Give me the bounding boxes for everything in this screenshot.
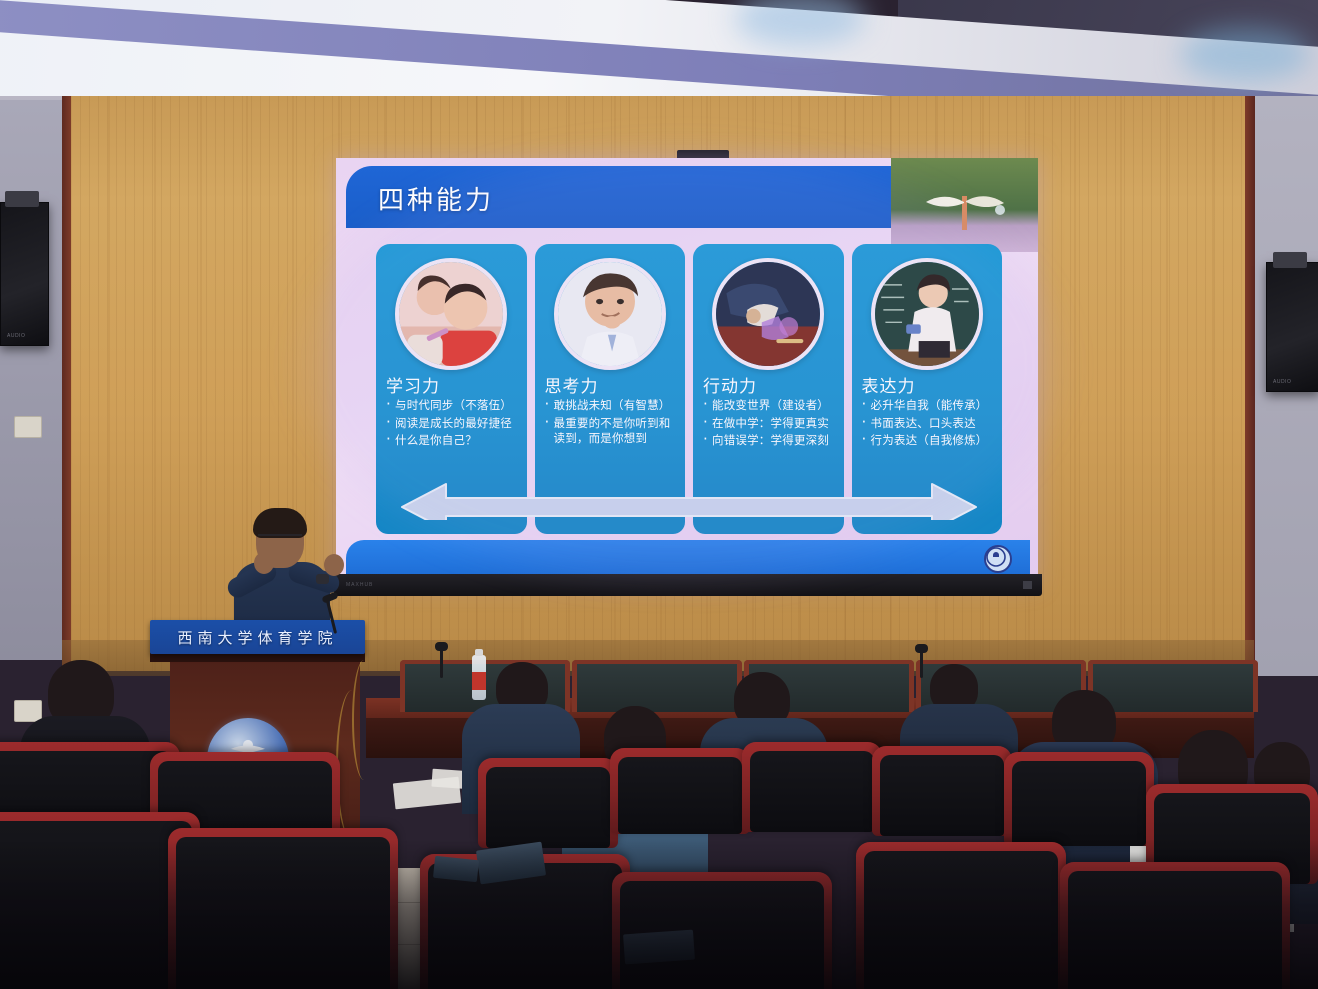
card-title: 学习力 <box>386 372 440 397</box>
presentation-display: 四种能力 <box>336 158 1038 586</box>
card-strip-cell <box>376 520 527 534</box>
bullet-item: 向错误学：学得更深刻 <box>701 433 838 449</box>
card-bullets: 敢挑战未知（有智慧） 最重要的不是你听到和读到，而是你想到 <box>543 398 680 449</box>
seat-cushion <box>750 751 874 832</box>
bullet-item: 必升华自我（能传承） <box>860 398 997 414</box>
card-bullets: 能改变世界（建设者） 在做中学：学得更真实 向错误学：学得更深刻 <box>701 398 838 451</box>
card-strip-cell <box>693 520 844 534</box>
auditorium-seat <box>742 742 882 832</box>
seat-cushion <box>486 767 610 848</box>
wall-speaker-left: AUDIO <box>0 202 49 346</box>
seat-cushion <box>1012 761 1146 846</box>
card-title: 行动力 <box>703 372 757 397</box>
desk-microphone-stem <box>440 648 443 678</box>
bullet-item: 阅读是成长的最好捷径 <box>384 416 521 432</box>
sprout-icon <box>922 186 1008 232</box>
card-bottom-strip <box>376 520 1002 534</box>
card-bullets: 与时代同步（不落伍） 阅读是成长的最好捷径 什么是你自己？ <box>384 398 521 451</box>
slide-footer-bar <box>346 540 1030 574</box>
bullet-item: 能改变世界（建设者） <box>701 398 838 414</box>
wall-speaker-right: AUDIO <box>1266 262 1318 392</box>
sprout-photo <box>891 158 1038 252</box>
bullet-item: 行为表达（自我修炼） <box>860 433 997 449</box>
seat-cushion <box>880 755 1004 836</box>
display-bezel: MAXHUB <box>334 574 1042 596</box>
wall-trim-right <box>1245 96 1255 674</box>
laboratory-experiment-photo <box>712 258 824 370</box>
children-studying-photo <box>395 258 507 370</box>
auditorium-seat <box>610 748 750 834</box>
card-strip-cell <box>852 520 1003 534</box>
cable-2 <box>336 690 368 840</box>
card-bullets: 必升华自我（能传承） 书面表达、口头表达 行为表达（自我修炼） <box>860 398 997 451</box>
speaker-bracket-right <box>1273 252 1307 268</box>
bullet-item: 书面表达、口头表达 <box>860 416 997 432</box>
teacher-at-blackboard-photo <box>871 258 983 370</box>
seat-cushion <box>618 757 742 834</box>
card-title: 表达力 <box>862 372 916 397</box>
slide-title: 四种能力 <box>378 180 494 217</box>
auditorium-seat <box>872 746 1012 836</box>
wall-outlet-upper <box>14 416 42 438</box>
slide-canvas: 四种能力 <box>336 158 1038 586</box>
speaker-brand-label-right: AUDIO <box>1273 379 1291 385</box>
desk-microphone-head <box>435 642 448 651</box>
bullet-item: 敢挑战未知（有智慧） <box>543 398 680 414</box>
speaker-brand-label-left: AUDIO <box>7 333 25 339</box>
desk-microphone-head <box>915 644 928 653</box>
wall-trim-left <box>62 96 71 671</box>
presenter-wristwatch <box>316 574 329 584</box>
presenter-glasses <box>258 534 302 545</box>
card-title: 思考力 <box>545 372 599 397</box>
bullet-item: 什么是你自己？ <box>384 433 521 449</box>
presenter-right-hand <box>324 554 344 576</box>
speaker-bracket-left <box>5 191 39 207</box>
foreground-shadow-overlay <box>0 839 1318 989</box>
auditorium-seat <box>478 758 618 848</box>
bullet-item: 在做中学：学得更真实 <box>701 416 838 432</box>
bullet-item: 最重要的不是你听到和读到，而是你想到 <box>543 416 680 447</box>
man-thinking-photo <box>554 258 666 370</box>
bullet-item: 与时代同步（不落伍） <box>384 398 521 414</box>
display-indicator <box>1023 581 1032 589</box>
ceiling-light-glow-2 <box>1180 28 1310 82</box>
lecture-hall-photo: AUDIO AUDIO 四种能力 <box>0 0 1318 989</box>
display-brand-label: MAXHUB <box>346 582 373 588</box>
left-side-wall <box>0 100 70 660</box>
bottle-cap <box>475 649 483 656</box>
auditorium-seat <box>1004 752 1154 846</box>
card-strip-cell <box>535 520 686 534</box>
footer-logo-icon <box>984 545 1012 573</box>
